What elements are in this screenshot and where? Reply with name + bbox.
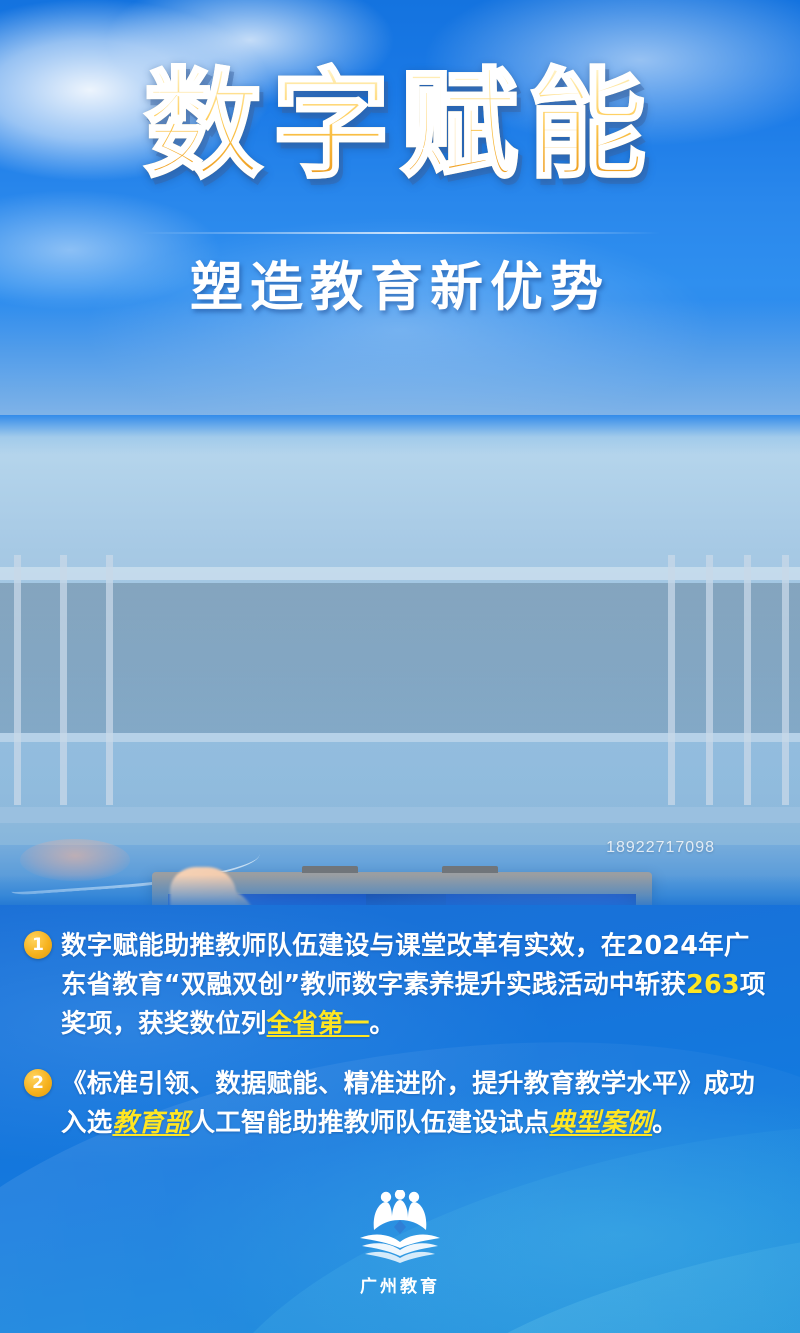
poster-root: 数字赋能 塑造教育新优势 18922717098 ✕: [0, 0, 800, 1333]
body-text: 。: [369, 1009, 395, 1039]
photo-block: 18922717098 ✕ ✕ ✕ 15:32 2024/09/30 实验小学: [0, 415, 800, 915]
crown-book-logo-icon: [352, 1190, 448, 1268]
highlighted-text: 典型案例: [549, 1108, 652, 1138]
banner-phone-number: 18922717098: [540, 839, 715, 863]
railing-bar: [0, 567, 800, 580]
railing-post: [782, 555, 789, 805]
achievement-item: 2《标准引领、数据赋能、精准进阶，提升教育教学水平》成功入选教育部人工智能助推教…: [0, 1065, 800, 1143]
body-text: 。: [652, 1108, 678, 1138]
title-wrap: 数字赋能: [0, 62, 800, 189]
railing-dark-band: [0, 583, 800, 733]
railing-post: [668, 555, 675, 805]
body-text: 数字赋能助推教师队伍建设与课堂改革有实效，在2024年广东省教育“双融双创”教师…: [61, 931, 750, 1000]
highlighted-text: 全省第一: [267, 1009, 370, 1039]
railing-post: [14, 555, 21, 805]
page-title: 数字赋能: [144, 62, 656, 189]
brand-logo: 广州教育: [0, 1190, 800, 1297]
achievement-text: 数字赋能助推教师队伍建设与课堂改革有实效，在2024年广东省教育“双融双创”教师…: [61, 927, 774, 1043]
achievement-text: 《标准引领、数据赋能、精准进阶，提升教育教学水平》成功入选教育部人工智能助推教师…: [61, 1065, 774, 1143]
railing-post: [706, 555, 713, 805]
body-text: 人工智能助推教师队伍建设试点: [190, 1108, 550, 1138]
achievement-list: 1数字赋能助推教师队伍建设与课堂改革有实效，在2024年广东省教育“双融双创”教…: [0, 927, 800, 1165]
monitor-mount-nub: [442, 866, 498, 873]
railing-bar: [0, 733, 800, 742]
railing-post: [744, 555, 751, 805]
title-divider: [140, 232, 660, 234]
page-subtitle: 塑造教育新优势: [0, 245, 800, 321]
highlighted-text: 教育部: [112, 1108, 189, 1138]
photo-top-fade: [0, 415, 800, 455]
railing-post: [60, 555, 67, 805]
logo-text: 广州教育: [0, 1272, 800, 1297]
list-bullet-number: 1: [24, 931, 52, 959]
highlighted-text: 263: [686, 970, 740, 1000]
railing-post: [106, 555, 113, 805]
bottom-panel: 1数字赋能助推教师队伍建设与课堂改革有实效，在2024年广东省教育“双融双创”教…: [0, 905, 800, 1333]
monitor-mount-nub: [302, 866, 358, 873]
railing-bar: [0, 807, 800, 823]
list-bullet-number: 2: [24, 1069, 52, 1097]
achievement-item: 1数字赋能助推教师队伍建设与课堂改革有实效，在2024年广东省教育“双融双创”教…: [0, 927, 800, 1043]
